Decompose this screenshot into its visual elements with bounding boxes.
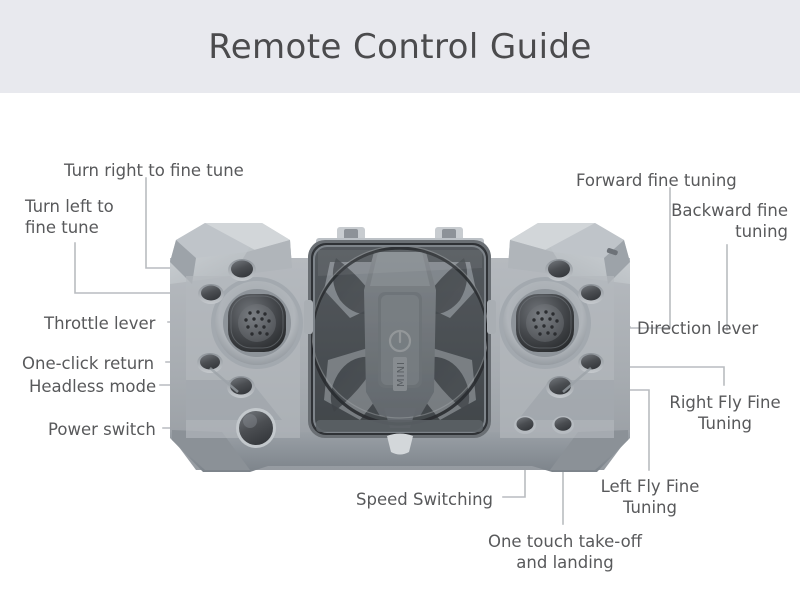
label-forward-fine-tuning: Forward fine tuning <box>576 170 737 191</box>
label-direction-lever: Direction lever <box>637 318 758 339</box>
label-turn-left-fine-tune: Turn left to fine tune <box>25 196 114 238</box>
remote-controller: MINI <box>170 223 630 472</box>
label-one-click-return: One-click return <box>22 353 154 374</box>
label-turn-right-fine-tune: Turn right to fine tune <box>64 160 244 181</box>
label-right-fly-fine-tuning: Right Fly Fine Tuning <box>655 392 795 434</box>
one-touch-takeoff-button[interactable] <box>552 416 574 434</box>
screenshot-root: Remote Control Guide <box>0 0 800 609</box>
label-backward-fine-tuning: Backward fine tuning <box>671 200 788 242</box>
label-speed-switching: Speed Switching <box>356 489 493 510</box>
drone-storage-bay: MINI <box>304 240 496 455</box>
label-one-touch-takeoff: One touch take-off and landing <box>470 531 660 573</box>
label-throttle-lever: Throttle lever <box>44 313 155 334</box>
power-switch-button[interactable] <box>236 408 276 448</box>
label-left-fly-fine-tuning: Left Fly Fine Tuning <box>580 476 720 518</box>
backward-trim-button[interactable] <box>578 284 604 304</box>
direction-lever-joystick[interactable] <box>499 277 591 369</box>
forward-trim-button[interactable] <box>545 259 573 281</box>
throttle-lever-joystick[interactable] <box>211 277 303 369</box>
label-headless-mode: Headless mode <box>29 376 156 397</box>
speed-switching-button[interactable] <box>514 416 536 434</box>
one-click-return-button[interactable] <box>197 353 223 373</box>
label-power-switch: Power switch <box>48 419 156 440</box>
turn-left-trim-button[interactable] <box>198 284 224 304</box>
turn-right-trim-button[interactable] <box>228 259 256 281</box>
right-fly-trim-button[interactable] <box>578 353 604 373</box>
